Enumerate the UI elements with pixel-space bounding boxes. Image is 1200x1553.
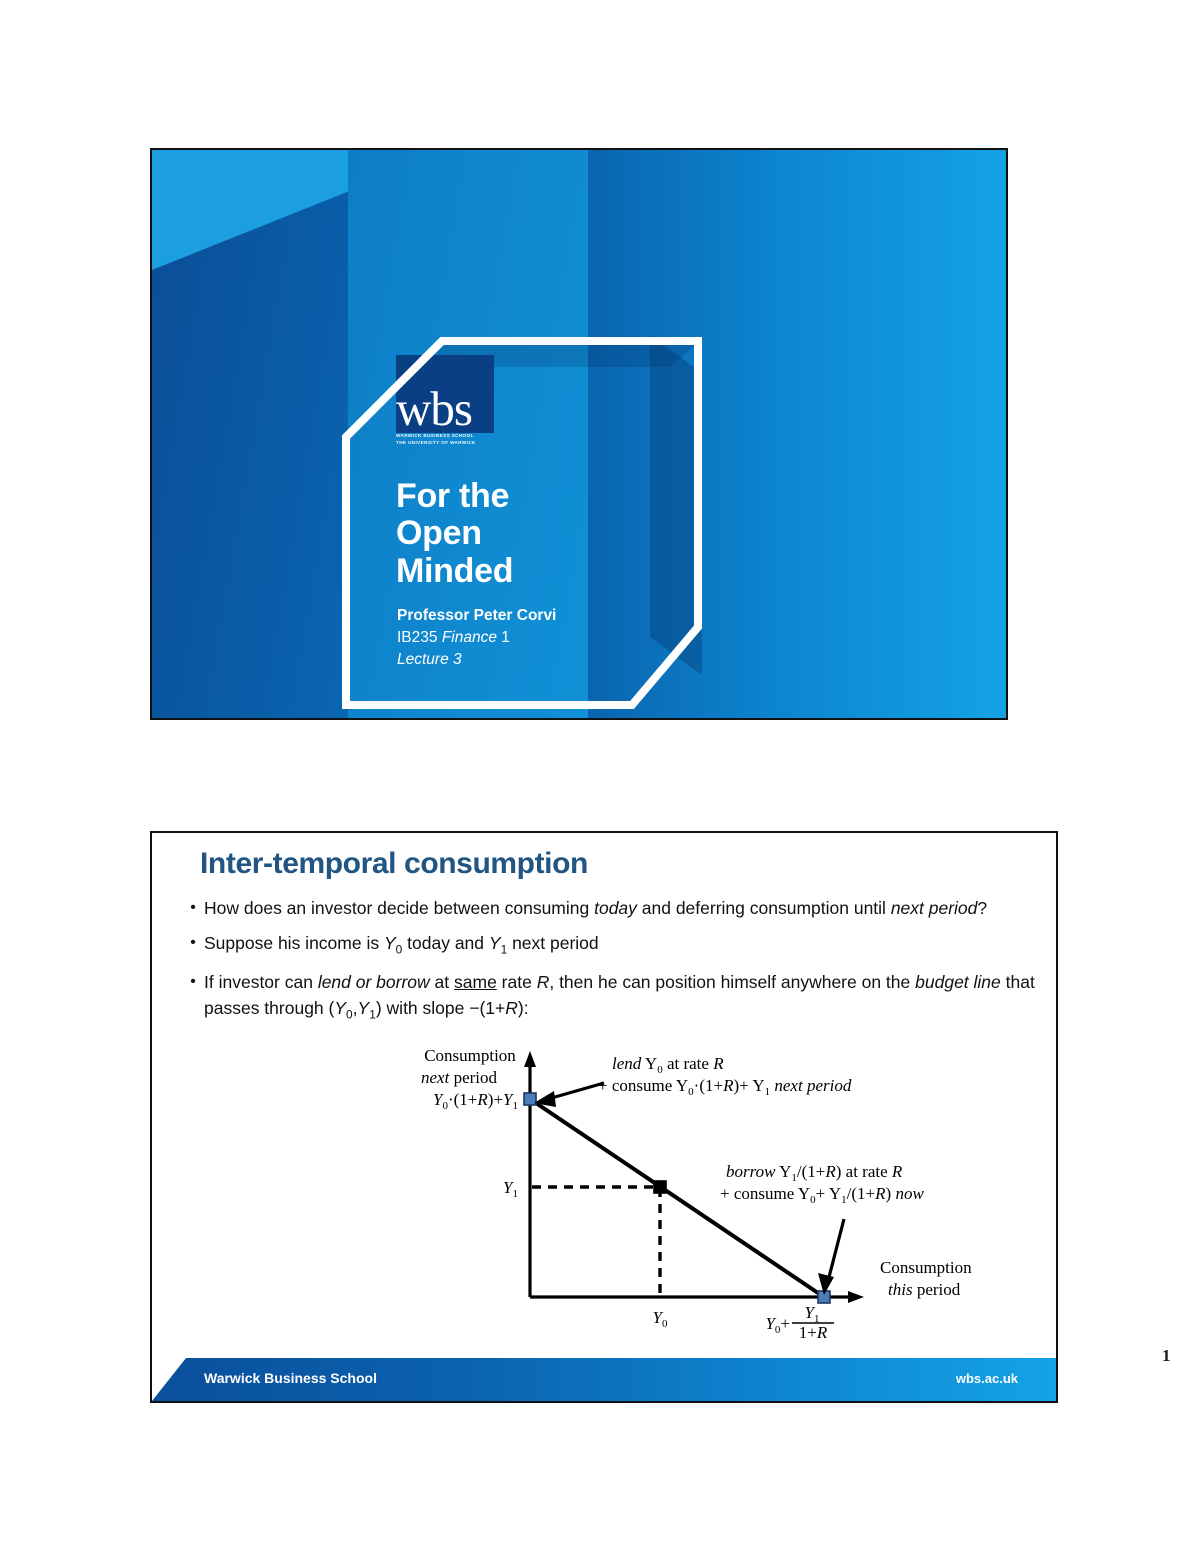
svg-text:Y0+: Y0+	[765, 1314, 790, 1336]
presenter-name: Professor Peter Corvi	[397, 605, 556, 627]
lend-annotation-arrow-line	[548, 1083, 604, 1099]
endowment-point-marker	[654, 1181, 666, 1193]
bullet-list: • How does an investor decide between co…	[182, 895, 1037, 1033]
lend-point-marker	[524, 1093, 536, 1105]
svg-text:lend Y0 at rate R: lend Y0 at rate R	[612, 1054, 724, 1076]
tagline-line-2: Open	[396, 515, 513, 552]
bullet-text: If investor can lend or borrow at same r…	[204, 969, 1037, 1025]
content-slide: Inter-temporal consumption • How does an…	[150, 831, 1058, 1403]
footer-school-name: Warwick Business School	[204, 1370, 377, 1386]
page-number: 1	[1162, 1346, 1171, 1366]
wbs-logo-subtitle-line2: THE UNIVERSITY OF WARWICK	[396, 440, 492, 447]
bullet-marker-icon: •	[182, 895, 204, 921]
wbs-logo-subtitle: WARWICK BUSINESS SCHOOL THE UNIVERSITY O…	[396, 433, 492, 447]
wbs-logo-subtitle-line1: WARWICK BUSINESS SCHOOL	[396, 433, 492, 440]
wbs-logo: wbs WARWICK BUSINESS SCHOOL THE UNIVERSI…	[396, 388, 492, 447]
bullet-marker-icon: •	[182, 969, 204, 1025]
list-item: • If investor can lend or borrow at same…	[182, 969, 1037, 1025]
x-axis-label-line1: Consumption	[880, 1258, 972, 1277]
tagline-line-1: For the	[396, 478, 513, 515]
list-item: • Suppose his income is Y0 today and Y1 …	[182, 930, 1037, 959]
budget-line-chart: Consumption next period Consumption this…	[212, 1041, 992, 1341]
course-line: IB235 Finance 1	[397, 627, 556, 649]
lecture-number: Lecture 3	[397, 649, 556, 671]
y-tick-label-intercept: Y0·(1+R)+Y1	[433, 1090, 518, 1112]
borrow-annotation-arrow-line	[828, 1219, 844, 1281]
svg-text:+ consume Y0+ Y1/(1+R) now: + consume Y0+ Y1/(1+R) now	[720, 1184, 924, 1206]
list-item: • How does an investor decide between co…	[182, 895, 1037, 921]
course-code: IB235	[397, 629, 442, 646]
x-tick-label-income: Y0	[653, 1308, 668, 1330]
y-axis-arrowhead	[524, 1051, 536, 1067]
lend-annotation: lend Y0 at rate R + consume Y0·(1+R)+ Y1…	[534, 1054, 852, 1107]
presenter-byline: Professor Peter Corvi IB235 Finance 1 Le…	[397, 605, 556, 671]
y-axis-label-line1: Consumption	[424, 1046, 516, 1065]
course-name: Finance	[442, 629, 497, 646]
footer-website: wbs.ac.uk	[956, 1371, 1018, 1386]
bullet-text: How does an investor decide between cons…	[204, 895, 1037, 921]
y-tick-label-income: Y1	[503, 1178, 518, 1200]
y-axis-label-line2: next period	[421, 1068, 498, 1087]
x-axis-arrowhead	[848, 1291, 864, 1303]
title-slide: wbs WARWICK BUSINESS SCHOOL THE UNIVERSI…	[150, 148, 1008, 720]
page-title: Inter-temporal consumption	[200, 847, 588, 881]
x-tick-label-intercept: Y0+ Y1 1+R	[765, 1303, 834, 1341]
x-axis-label-line2: this period	[888, 1280, 961, 1299]
bullet-text: Suppose his income is Y0 today and Y1 ne…	[204, 930, 1037, 959]
course-number: 1	[497, 629, 510, 646]
svg-text:borrow Y1/(1+R) at rate R: borrow Y1/(1+R) at rate R	[726, 1162, 903, 1184]
svg-text:1+R: 1+R	[799, 1323, 828, 1341]
tagline-line-3: Minded	[396, 553, 513, 590]
bullet-marker-icon: •	[182, 930, 204, 959]
svg-text:Y1: Y1	[805, 1303, 820, 1325]
svg-text:+ consume Y0·(1+R)+ Y1 next pe: + consume Y0·(1+R)+ Y1 next period	[598, 1076, 852, 1098]
slide-footer: Warwick Business School wbs.ac.uk	[152, 1358, 1058, 1401]
tagline: For the Open Minded	[396, 478, 513, 590]
wbs-wordmark: wbs	[396, 388, 492, 430]
